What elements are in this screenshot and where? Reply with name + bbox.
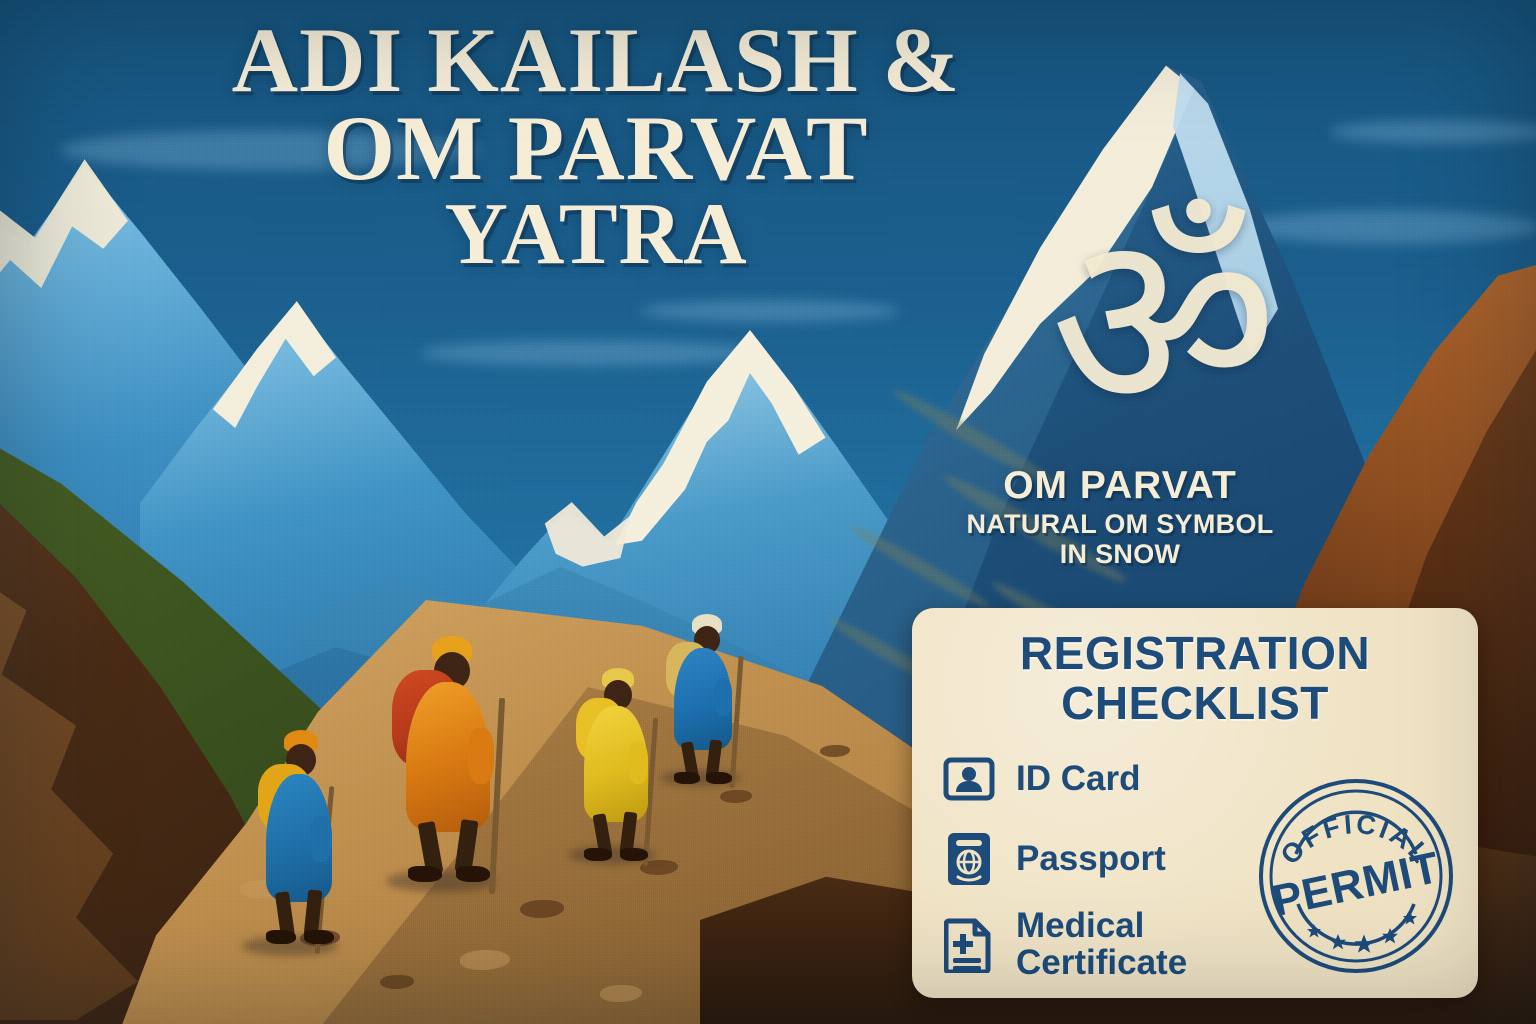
title-line-2: OM PARVAT	[176, 104, 1016, 192]
cloud-3	[640, 300, 900, 322]
checklist-item-label: ID Card	[1016, 761, 1140, 798]
medical-certificate-icon	[940, 914, 998, 976]
checklist-item-medical-certificate[interactable]: Medical Certificate	[940, 908, 1270, 982]
poster-title: ADI KAILASH & OM PARVAT YATRA	[176, 16, 1016, 277]
trekker-boot	[706, 772, 732, 784]
title-line-1: ADI KAILASH &	[176, 16, 1016, 104]
card-heading-line-1: REGISTRATION	[912, 630, 1478, 676]
trekker-boot	[266, 930, 296, 944]
checklist-item-label: Passport	[1016, 841, 1166, 878]
checklist-items: ID Card Passport	[940, 748, 1270, 1000]
poster-canvas: ॐ	[0, 0, 1536, 1024]
trekker-arm	[468, 728, 494, 784]
trekker-boot	[304, 930, 334, 944]
trekker-boot	[674, 772, 700, 784]
trekker-arm	[310, 816, 332, 862]
cloud-5	[1330, 120, 1536, 144]
om-glyph: ॐ	[1024, 208, 1304, 438]
cloud-2	[420, 340, 760, 366]
card-heading-line-2: CHECKLIST	[912, 680, 1478, 726]
card-heading: REGISTRATION CHECKLIST	[912, 608, 1478, 726]
om-parvat-name: OM PARVAT	[950, 466, 1290, 507]
checklist-item-label: Medical Certificate	[1016, 908, 1270, 982]
id-card-icon	[940, 748, 998, 810]
om-symbol: ॐ	[1024, 208, 1304, 448]
trekker-boot	[408, 866, 442, 882]
trekker-boot	[456, 866, 490, 882]
title-line-3: YATRA	[176, 193, 1016, 277]
trekker-arm	[628, 742, 648, 784]
om-parvat-subtitle-1: NATURAL OM SYMBOL	[950, 509, 1290, 539]
trekker-1-blue-robe	[236, 730, 346, 960]
trekking-pole	[489, 698, 505, 894]
registration-checklist-card: REGISTRATION CHECKLIST ID Card	[912, 608, 1478, 998]
trekker-4-blue-robe	[654, 614, 754, 790]
om-parvat-label: OM PARVAT NATURAL OM SYMBOL IN SNOW	[950, 466, 1290, 569]
trekker-2-orange-robe	[376, 636, 512, 898]
checklist-item-passport[interactable]: Passport	[940, 828, 1270, 890]
checklist-item-id-card[interactable]: ID Card	[940, 748, 1270, 810]
trekker-boot	[584, 848, 612, 861]
om-parvat-subtitle-2: IN SNOW	[950, 539, 1290, 569]
trekker-boot	[620, 848, 648, 861]
trekker-arm	[714, 678, 732, 716]
passport-icon	[940, 828, 998, 890]
official-permit-stamp: OFFICIAL PERMIT	[1256, 776, 1456, 976]
